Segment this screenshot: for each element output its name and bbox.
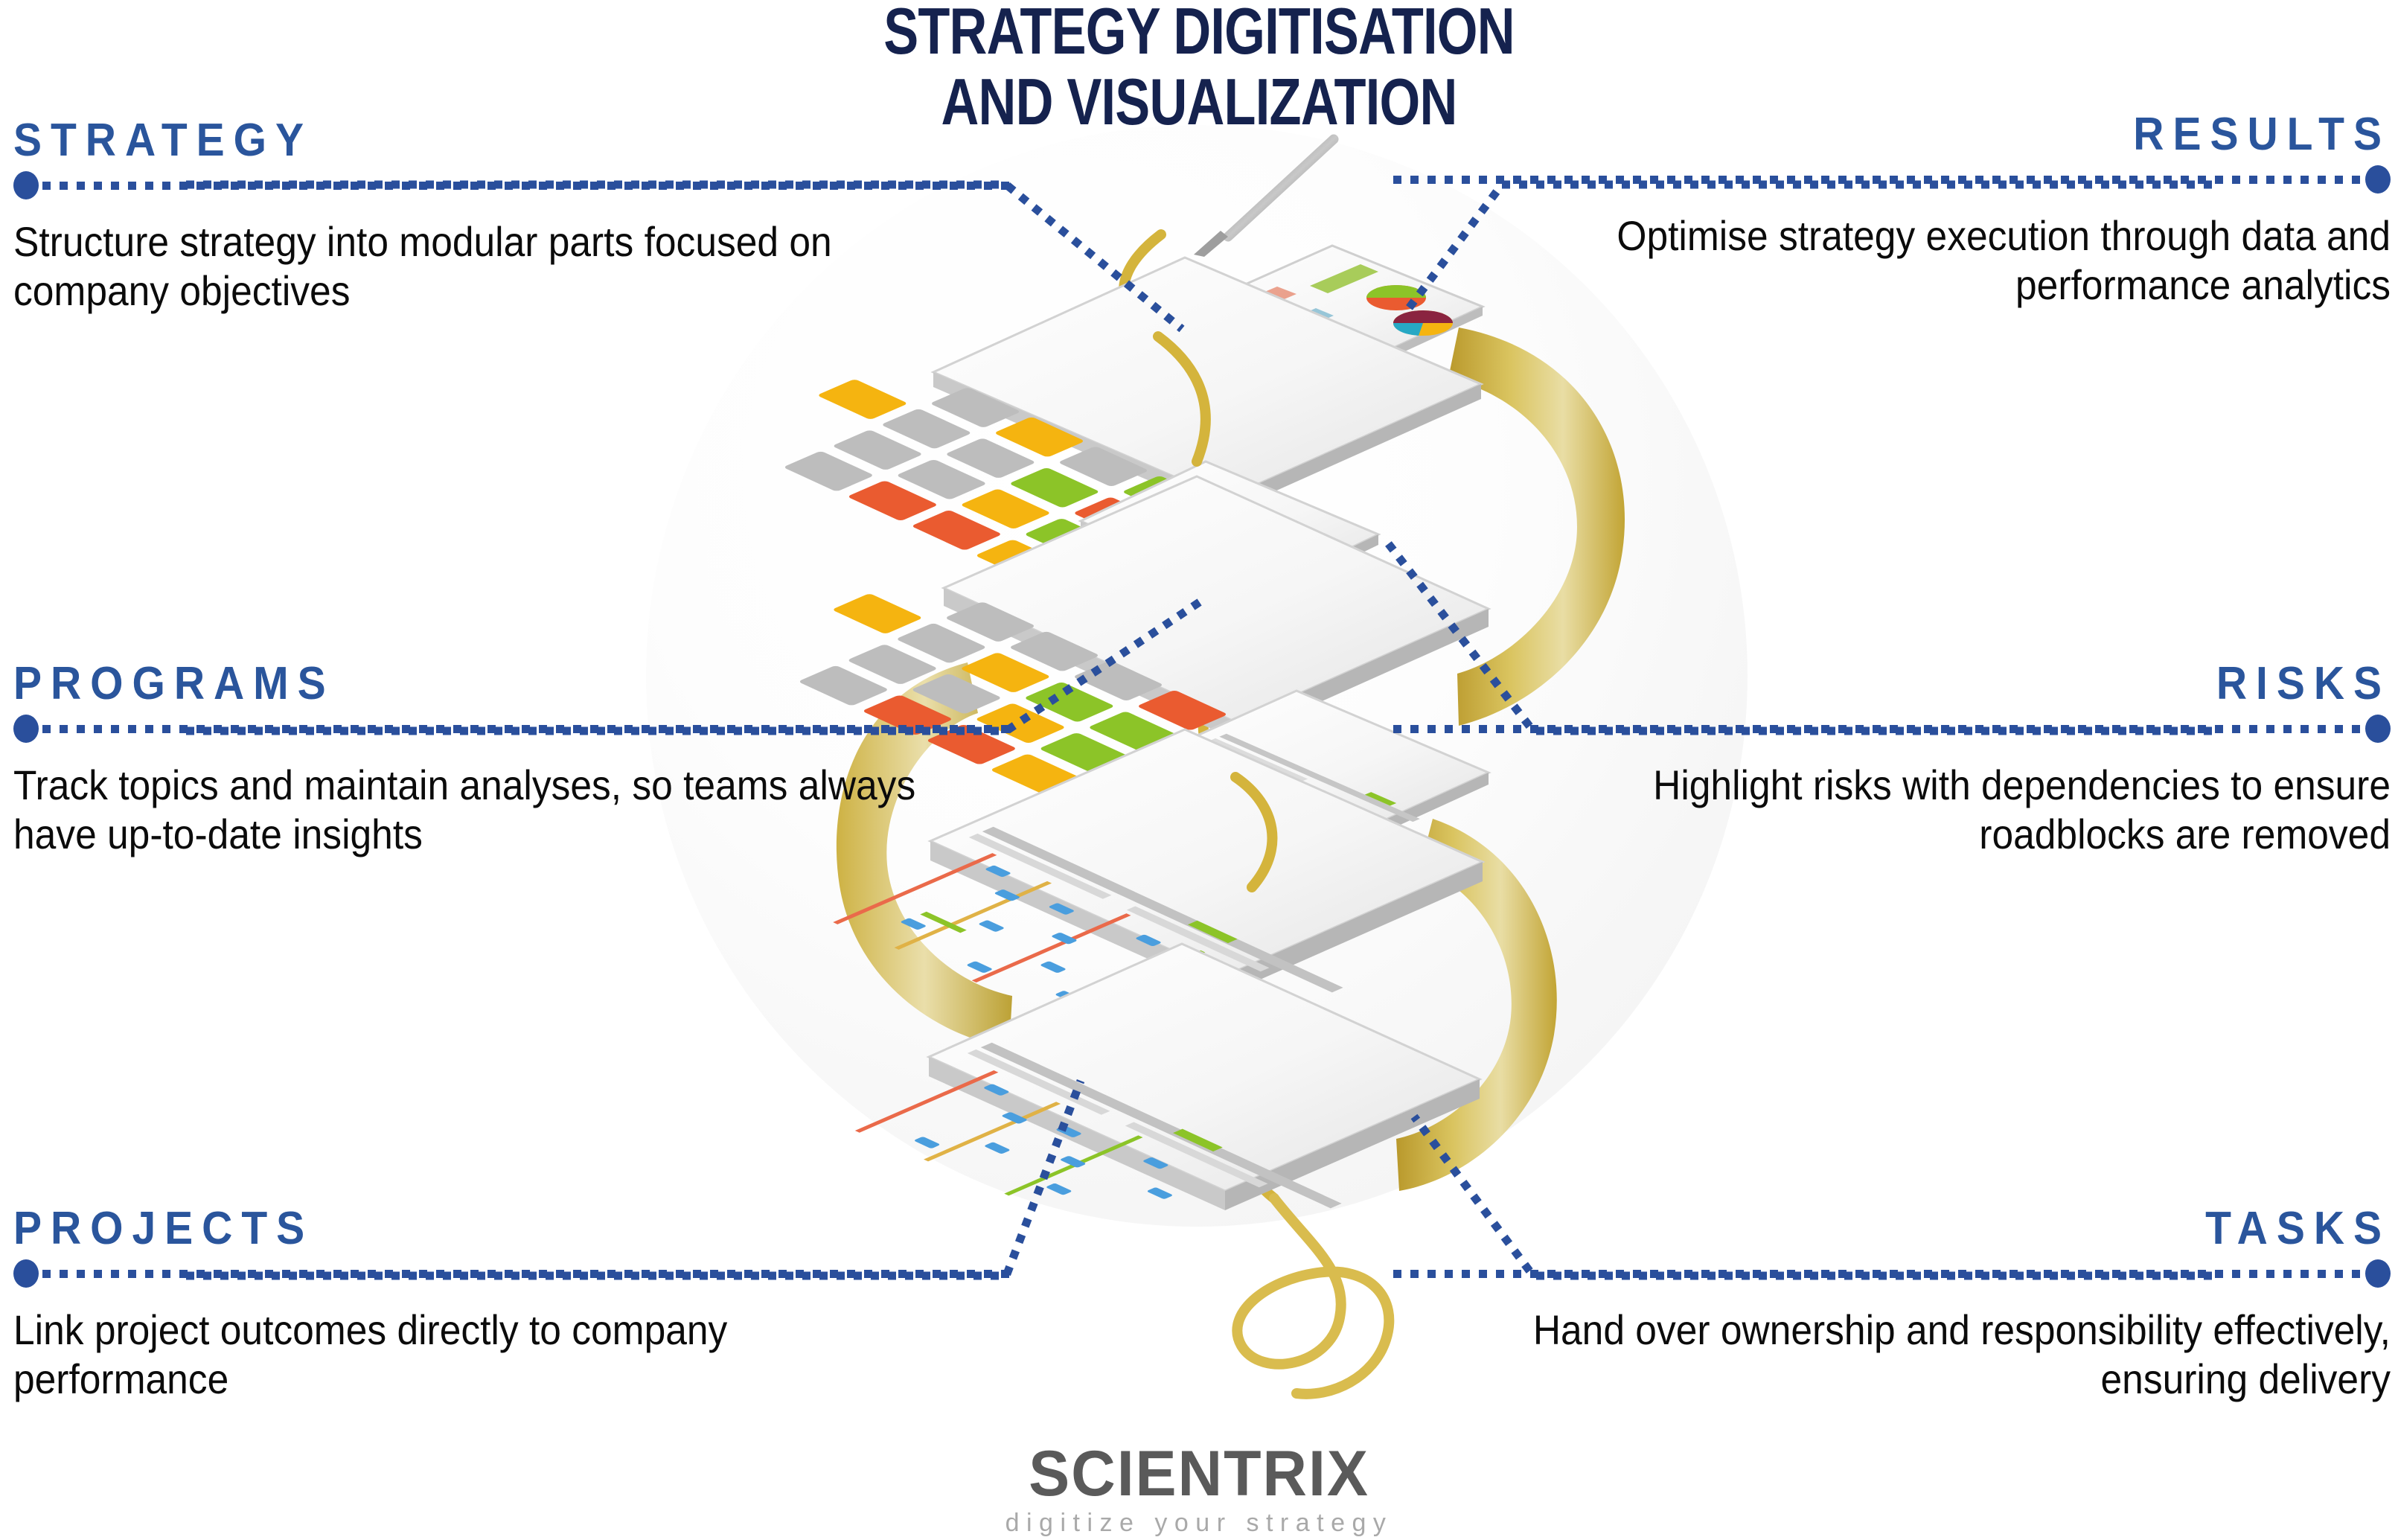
page-title-line1: STRATEGY DIGITISATION — [693, 0, 1705, 66]
infographic-canvas: STRATEGY DIGITISATION AND VISUALIZATION … — [0, 0, 2398, 1540]
page-title: STRATEGY DIGITISATION AND VISUALIZATION — [693, 0, 1705, 137]
connector-projects — [186, 1081, 1081, 1276]
page-title-line2: AND VISUALIZATION — [693, 66, 1705, 137]
logo-tagline: digitize your strategy — [1005, 1510, 1393, 1536]
connector-strategy — [186, 185, 1182, 329]
connector-tasks — [1414, 1116, 2212, 1276]
logo-wordmark: SCIENTRIX — [1013, 1442, 1385, 1506]
connector-results — [1407, 185, 2212, 311]
connector-lines — [0, 0, 2398, 1540]
brand-logo: SCIENTRIX digitize your strategy — [1005, 1442, 1393, 1536]
connector-risks — [1386, 540, 2212, 731]
connector-programs — [186, 600, 1203, 731]
